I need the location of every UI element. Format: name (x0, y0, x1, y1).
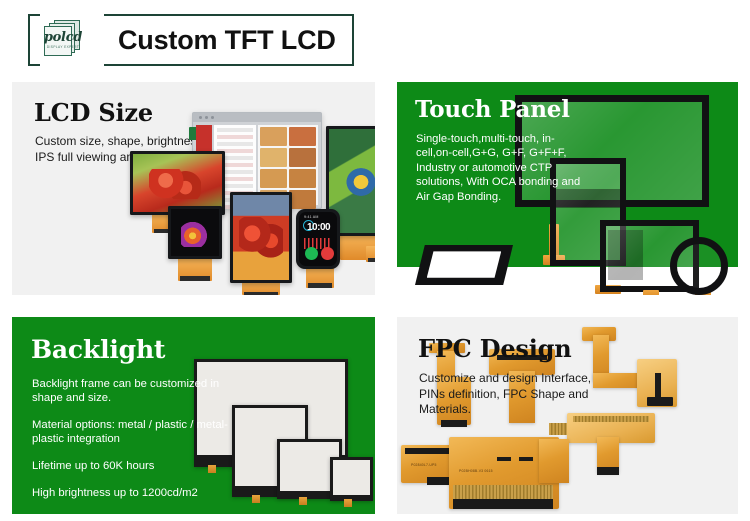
fpc-component (519, 457, 533, 461)
logo-tagline: DISPLAY EXPERT (43, 45, 83, 49)
card-backlight-title: Backlight (31, 335, 165, 364)
fpc-gold-pads (549, 423, 567, 435)
backlight-pin (299, 497, 307, 505)
backlight-line: Backlight frame can be customized in sha… (32, 377, 232, 405)
fpc-connector (441, 420, 467, 427)
lcd-fpc-tail (178, 257, 212, 281)
backlight-line: Material options: metal / plastic / meta… (32, 418, 232, 446)
lcd-screen-image (233, 195, 289, 280)
watch-time: 10:00 (307, 222, 330, 233)
fpc-connector (647, 397, 673, 406)
backlight-panel-s (330, 457, 373, 501)
monitor-dot (205, 116, 208, 119)
card-touch-panel-title: Touch Panel (415, 96, 570, 123)
touch-panel-flat-sheet (415, 245, 513, 285)
page-title: Custom TFT LCD (118, 25, 336, 56)
backlight-line: High brightness up to 1200cd/m2 (32, 486, 232, 500)
touch-fpc-connector (643, 290, 659, 295)
backlight-line: Lifetime up to 60K hours (32, 459, 232, 473)
lcd-screen-image: 9:41 AM 10:00 (299, 212, 337, 266)
lcd-panel-abstract (168, 206, 222, 259)
header-banner: polcd DISPLAY EXPERT Custom TFT LCD (0, 0, 750, 82)
lcd-panel-smartwatch: 9:41 AM 10:00 (296, 209, 340, 269)
fpc-part-label: P02BH08B-V3 0615 (459, 469, 493, 473)
watch-complication-green (305, 247, 318, 260)
card-fpc-design[interactable]: P02840L7-UP5 P02BH08B-V3 0615 FPC Design… (397, 317, 738, 514)
monitor-dot (199, 116, 202, 119)
header-inner: polcd DISPLAY EXPERT Custom TFT LCD (28, 14, 354, 66)
fpc-gold-pads (453, 485, 553, 499)
fpc-connector (427, 477, 449, 485)
fpc-part-label: P02840L7-UP5 (411, 463, 437, 467)
card-fpc-design-body: Customize and design Interface, PINs def… (419, 371, 604, 418)
backlight-pin (344, 499, 352, 507)
watch-status-text: 9:41 AM (304, 215, 319, 219)
watch-complication-red (321, 247, 334, 260)
page-title-box: Custom TFT LCD (104, 14, 354, 66)
lcd-screen-image (171, 209, 219, 256)
fpc-flex-strip (539, 439, 569, 483)
lcd-products-illustration: 9:41 AM 10:00 (130, 96, 375, 295)
fpc-connector (453, 499, 553, 509)
backlight-pin (252, 495, 260, 503)
fpc-trace-band (405, 448, 453, 454)
card-touch-panel-body: Single-touch,multi-touch, in-cell,on-cel… (416, 132, 581, 204)
lcd-fpc-tail (366, 246, 375, 262)
fpc-component (497, 457, 511, 461)
lcd-fpc-tail (306, 266, 334, 288)
card-backlight-body: Backlight frame can be customized in sha… (32, 377, 232, 513)
lcd-screen-image (133, 154, 222, 212)
brand-logo: polcd DISPLAY EXPERT (28, 14, 90, 66)
logo-wordmark: polcd (43, 31, 83, 44)
monitor-dot (211, 116, 214, 119)
custom-tft-lcd-infographic: polcd DISPLAY EXPERT Custom TFT LCD LCD … (0, 0, 750, 521)
lcd-fpc-tail (242, 281, 280, 295)
card-lcd-size[interactable]: LCD Size Custom size, shape, brightness,… (12, 82, 375, 295)
card-touch-panel[interactable]: Touch Panel Single-touch,multi-touch, in… (397, 82, 738, 295)
card-backlight[interactable]: Backlight Backlight frame can be customi… (12, 317, 375, 514)
card-fpc-design-title: FPC Design (418, 334, 572, 363)
logo-mark: polcd DISPLAY EXPERT (40, 20, 88, 60)
lcd-panel-food (230, 192, 292, 283)
fpc-connector (597, 467, 619, 475)
touch-panel-circular (670, 237, 728, 295)
